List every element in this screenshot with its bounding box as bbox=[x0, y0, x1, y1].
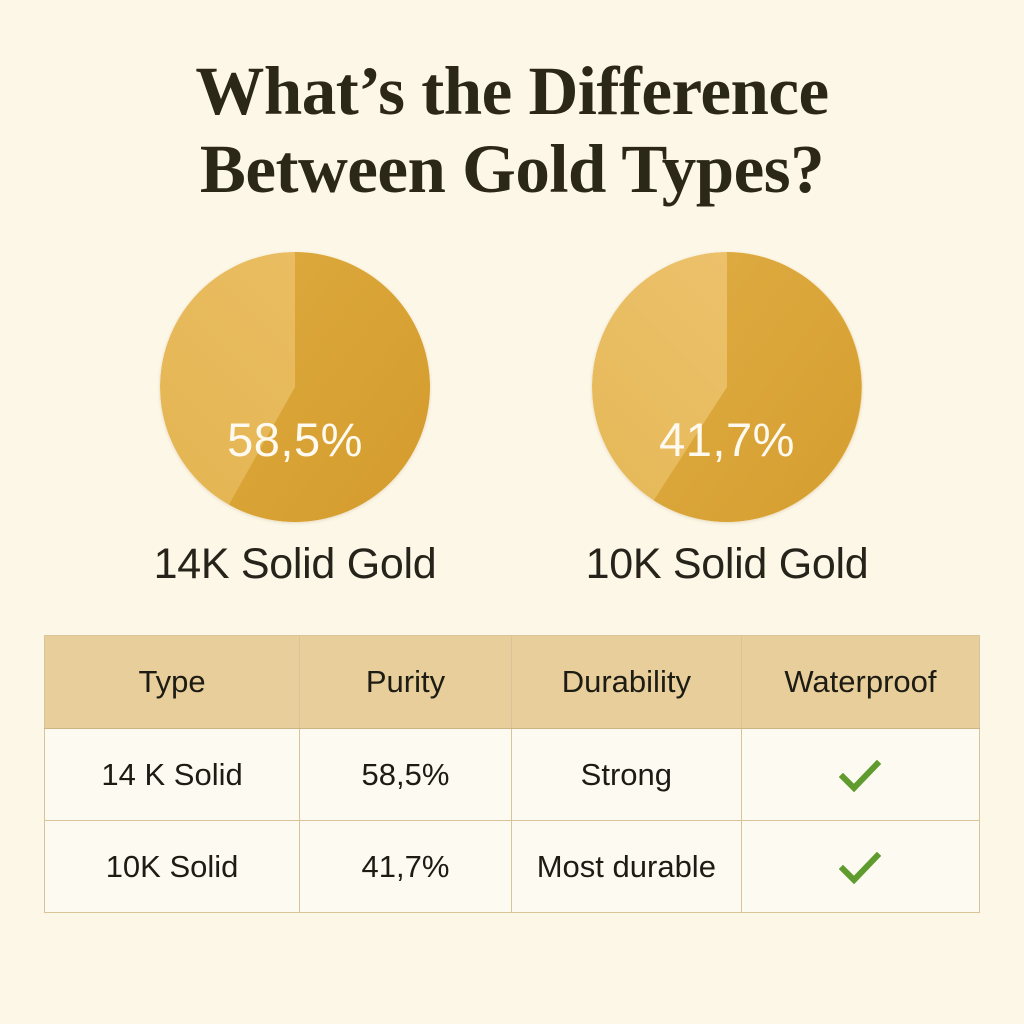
page-title: What’s the Difference Between Gold Types… bbox=[0, 52, 1024, 208]
check-icon bbox=[839, 852, 881, 884]
pie-caption-14k: 14K Solid Gold bbox=[100, 540, 490, 589]
check-icon bbox=[839, 760, 881, 792]
infographic-page: What’s the Difference Between Gold Types… bbox=[0, 0, 1024, 1024]
pie-caption-10k: 10K Solid Gold bbox=[532, 540, 922, 589]
cell-waterproof-14k bbox=[741, 729, 979, 821]
table-row: 14 K Solid 58,5% Strong bbox=[45, 729, 980, 821]
table-header-durability: Durability bbox=[511, 636, 741, 729]
cell-waterproof-10k bbox=[741, 821, 979, 913]
table-header-row: Type Purity Durability Waterproof bbox=[45, 636, 980, 729]
cell-type-14k: 14 K Solid bbox=[45, 729, 300, 821]
title-line-2: Between Gold Types? bbox=[0, 130, 1024, 208]
pie-chart-group: 58,5% 14K Solid Gold bbox=[0, 252, 1024, 612]
pie-graphic-10k: 41,7% bbox=[592, 252, 862, 522]
cell-durability-10k: Most durable bbox=[511, 821, 741, 913]
comparison-table: Type Purity Durability Waterproof 14 K S… bbox=[44, 635, 980, 913]
pie-chart-14k: 58,5% 14K Solid Gold bbox=[160, 252, 430, 522]
table-header-purity: Purity bbox=[300, 636, 512, 729]
pie-graphic-14k: 58,5% bbox=[160, 252, 430, 522]
cell-purity-10k: 41,7% bbox=[300, 821, 512, 913]
cell-type-10k: 10K Solid bbox=[45, 821, 300, 913]
cell-purity-14k: 58,5% bbox=[300, 729, 512, 821]
title-line-1: What’s the Difference bbox=[0, 52, 1024, 130]
cell-durability-14k: Strong bbox=[511, 729, 741, 821]
table-header-waterproof: Waterproof bbox=[741, 636, 979, 729]
table-header-type: Type bbox=[45, 636, 300, 729]
pie-chart-10k: 41,7% 10K Solid Gold bbox=[592, 252, 862, 522]
table-row: 10K Solid 41,7% Most durable bbox=[45, 821, 980, 913]
